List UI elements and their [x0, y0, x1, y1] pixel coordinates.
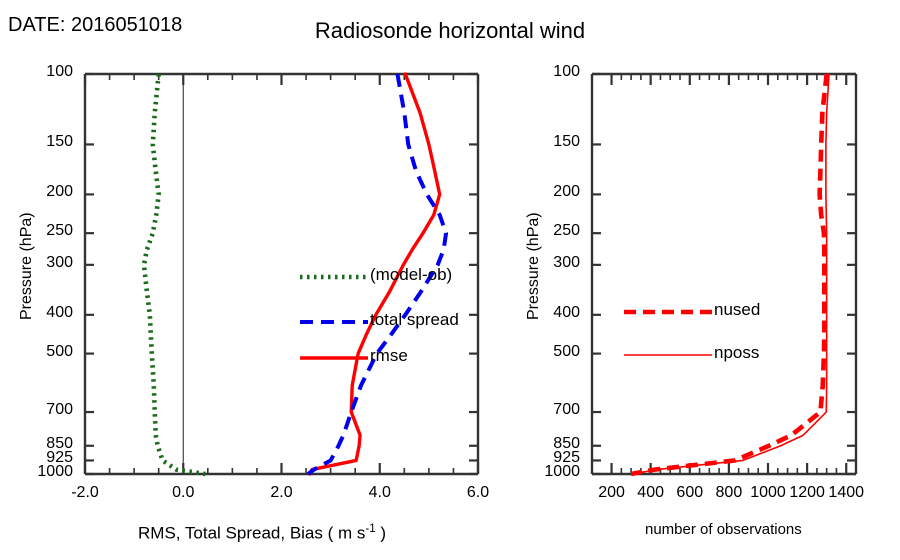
- right-xtick-1200: 1200: [789, 484, 825, 502]
- right-ytick-300: 300: [553, 254, 580, 272]
- right-xtick-400: 400: [637, 484, 664, 502]
- left-ytick-400: 400: [46, 304, 73, 322]
- right-xtick-1400: 1400: [828, 484, 864, 502]
- right-legend-label-nused: nused: [714, 300, 760, 320]
- left-xtick--2.0: -2.0: [71, 484, 99, 502]
- left-x-axis-title-post: ): [376, 524, 386, 543]
- left-legend-label-bias: (model-ob): [370, 265, 452, 285]
- right-panel: [592, 74, 856, 474]
- right-series-nposs: [633, 74, 829, 474]
- right-y-axis-title: Pressure (hPa): [525, 212, 543, 320]
- right-ytick-150: 150: [553, 133, 580, 151]
- left-x-axis-title-pre: RMS, Total Spread, Bias ( m s: [138, 524, 365, 543]
- left-x-axis-title-exponent: -1: [365, 523, 375, 535]
- left-legend-label-total-spread: total spread: [370, 310, 459, 330]
- left-xtick-2.0: 2.0: [270, 484, 292, 502]
- right-ytick-400: 400: [553, 304, 580, 322]
- left-series--model-ob-: [144, 74, 205, 474]
- left-xtick-6.0: 6.0: [467, 484, 489, 502]
- right-x-axis-title: number of observations: [645, 521, 802, 538]
- right-legend-label-nposs: nposs: [714, 343, 759, 363]
- right-ytick-500: 500: [553, 343, 580, 361]
- left-xtick-4.0: 4.0: [369, 484, 391, 502]
- right-xtick-600: 600: [676, 484, 703, 502]
- left-x-axis-title: RMS, Total Spread, Bias ( m s-1 ): [138, 523, 386, 544]
- left-ytick-250: 250: [46, 222, 73, 240]
- left-ytick-200: 200: [46, 183, 73, 201]
- left-ytick-150: 150: [46, 133, 73, 151]
- right-ytick-100: 100: [553, 63, 580, 81]
- left-y-axis-title: Pressure (hPa): [18, 212, 36, 320]
- right-xtick-1000: 1000: [750, 484, 786, 502]
- figure-root: DATE: 2016051018 Radiosonde horizontal w…: [0, 0, 900, 560]
- right-ytick-1000: 1000: [544, 463, 580, 481]
- right-ytick-700: 700: [553, 401, 580, 419]
- left-xtick-0.0: 0.0: [172, 484, 194, 502]
- left-ytick-300: 300: [46, 254, 73, 272]
- right-series-nused: [631, 74, 827, 474]
- left-ytick-100: 100: [46, 63, 73, 81]
- right-ytick-200: 200: [553, 183, 580, 201]
- left-legend-label-rmse: rmse: [370, 346, 408, 366]
- left-ytick-1000: 1000: [37, 463, 73, 481]
- left-ytick-700: 700: [46, 401, 73, 419]
- right-ytick-250: 250: [553, 222, 580, 240]
- right-xtick-200: 200: [598, 484, 625, 502]
- right-xtick-800: 800: [716, 484, 743, 502]
- left-ytick-500: 500: [46, 343, 73, 361]
